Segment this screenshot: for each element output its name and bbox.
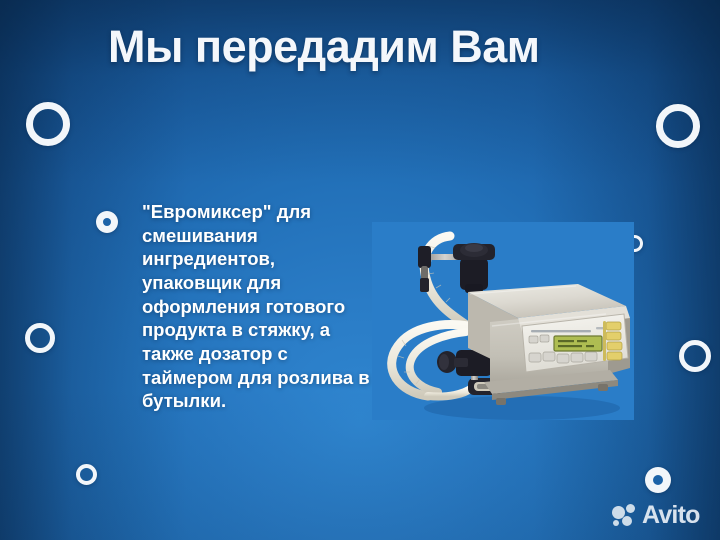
ring-top-right-icon [656,104,700,148]
donut-bottom-right-icon [645,467,671,493]
ring-middle-left-icon [25,323,55,353]
photo-lcd-display [554,336,602,351]
product-photo [372,222,634,420]
avito-watermark: Avito [612,500,700,530]
slide-canvas: Мы передадим Вам "Евромиксер" для смешив… [0,0,720,540]
body-paragraph: "Евромиксер" для смешивания ингредиентов… [142,200,372,413]
ring-bottom-left-icon [76,464,97,485]
avito-dots-logo-icon [612,504,638,526]
page-title: Мы передадим Вам [108,22,668,72]
avito-wordmark: Avito [642,503,700,528]
bullet-point-icon [96,211,118,233]
ring-middle-right-icon [679,340,711,372]
ring-top-left-icon [26,102,70,146]
